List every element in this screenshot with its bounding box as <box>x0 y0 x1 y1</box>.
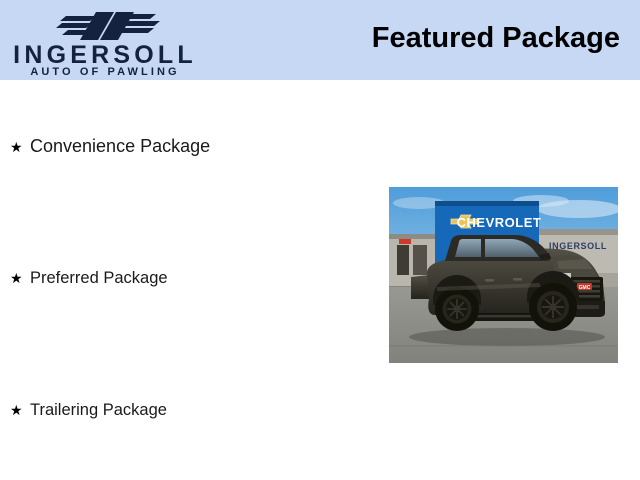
winged-emblem-icon <box>52 8 164 44</box>
star-bullet-icon: ★ <box>10 140 30 154</box>
feature-label: Preferred Package <box>30 270 168 287</box>
star-bullet-icon: ★ <box>10 271 30 285</box>
brand-wordmark: INGERSOLL <box>0 42 210 68</box>
page-title: Featured Package <box>372 22 620 55</box>
list-item: ★ Convenience Package <box>10 137 210 155</box>
list-item: ★ Trailering Package <box>10 402 167 419</box>
header-band: INGERSOLL AUTO OF PAWLING Featured Packa… <box>0 0 640 80</box>
list-item: ★ Preferred Package <box>10 270 168 287</box>
svg-text:GMC: GMC <box>579 285 591 291</box>
feature-label: Trailering Package <box>30 402 167 419</box>
star-bullet-icon: ★ <box>10 403 30 417</box>
feature-label: Convenience Package <box>30 137 210 155</box>
feature-list: ★ Convenience Package ★ Preferred Packag… <box>0 80 380 480</box>
brand-tagline: AUTO OF PAWLING <box>0 66 210 79</box>
dealership-sign-text: CHEVROLET <box>457 215 542 230</box>
vehicle-photo: INGERSOLL CHEVROLET <box>389 187 618 363</box>
brand-logo: INGERSOLL AUTO OF PAWLING <box>0 4 210 80</box>
